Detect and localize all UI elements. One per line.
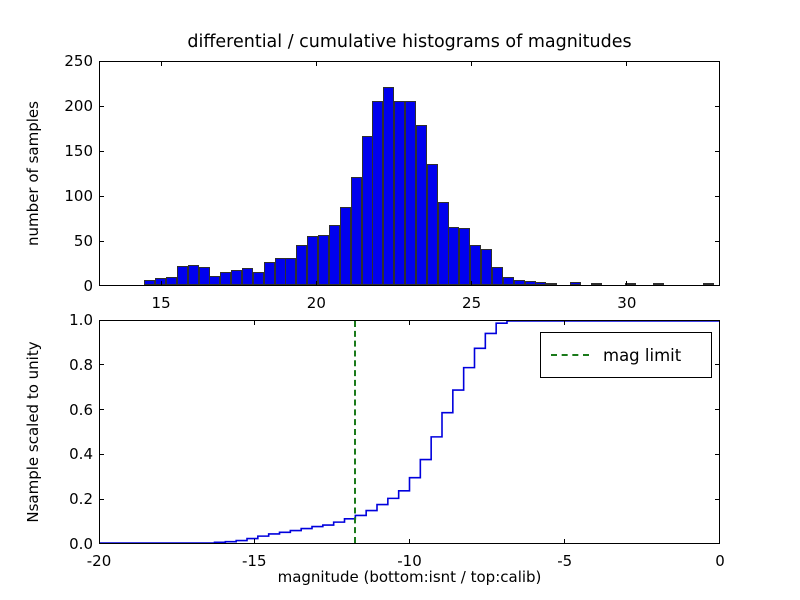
bottom-ytick-4 [100,364,104,365]
histogram-bar [525,281,536,285]
top-xtick-upper-2 [471,62,472,66]
histogram-bar [264,262,275,285]
top-xtick-3 [626,281,627,285]
mag-limit-vline [354,321,356,543]
bottom-ytick-2 [100,454,104,455]
histogram-bar [351,177,362,285]
top-xtick-label-1: 20 [307,294,326,312]
histogram-bar [503,277,514,285]
top-ytick-label-2: 100 [51,187,93,205]
histogram-bar [492,267,503,285]
top-ytick-3 [100,151,104,152]
top-panel-y-axis-label: number of samples [24,61,42,286]
mag-limit-legend-swatch-icon [551,354,589,356]
bottom-ytick-right-2 [715,454,719,455]
bottom-ytick-label-1: 0.2 [51,490,93,508]
histogram-bar [209,276,220,285]
top-ytick-label-0: 0 [51,277,93,295]
histogram-bar [438,202,449,285]
top-ytick-label-4: 200 [51,97,93,115]
histogram-bar [703,283,714,285]
top-xtick-label-3: 30 [617,294,636,312]
bottom-panel-y-axis-label: Nsample scaled to unity [24,320,42,544]
histogram-plot-area [100,62,719,285]
legend[interactable]: mag limit [540,332,712,378]
cumulative-histogram-axes: mag limit [99,320,720,544]
histogram-bar [340,207,351,285]
top-ytick-label-5: 250 [51,52,93,70]
histogram-bar [383,87,394,285]
histogram-bar [166,277,177,285]
bottom-ytick-right-4 [715,364,719,365]
bottom-ytick-label-4: 0.8 [51,356,93,374]
histogram-bar [394,101,405,286]
top-xtick-upper-3 [626,62,627,66]
legend-entry-label: mag limit [603,346,681,365]
histogram-bar [253,272,264,285]
histogram-bar [329,225,340,285]
bottom-ytick-label-0: 0.0 [51,535,93,553]
bottom-xtick-label-2: -10 [397,552,422,570]
histogram-bar [177,266,188,285]
bottom-ytick-right-3 [715,409,719,410]
bottom-xtick-upper-3 [564,321,565,325]
top-ytick-right-5 [715,61,719,62]
bottom-xtick-label-0: -20 [87,552,112,570]
bottom-ytick-label-2: 0.4 [51,445,93,463]
histogram-bar [416,125,427,285]
histogram-bar [470,245,481,286]
x-axis-label: magnitude (bottom:isnt / top:calib) [99,568,720,586]
top-ytick-2 [100,196,104,197]
histogram-bar [362,136,373,285]
histogram-bar [514,280,525,285]
bottom-xtick-2 [409,539,410,543]
histogram-bar [188,265,199,285]
matplotlib-figure: differential / cumulative histograms of … [0,0,800,600]
bottom-ytick-right-1 [715,499,719,500]
top-xtick-2 [471,281,472,285]
histogram-bar [144,280,155,285]
bottom-ytick-label-5: 1.0 [51,311,93,329]
top-ytick-right-4 [715,106,719,107]
histogram-bar [220,272,231,286]
top-ytick-label-3: 150 [51,142,93,160]
bottom-xtick-1 [254,539,255,543]
differential-histogram-axes [99,61,720,286]
bottom-ytick-label-3: 0.6 [51,401,93,419]
bottom-xtick-3 [564,539,565,543]
histogram-bar [427,164,438,286]
histogram-bar [372,101,383,286]
bottom-xtick-label-1: -15 [242,552,267,570]
histogram-bar [535,282,546,285]
histogram-bar [591,283,602,285]
histogram-bar [285,258,296,285]
histogram-bar [459,228,470,285]
bottom-ytick-3 [100,409,104,410]
bottom-ytick-1 [100,499,104,500]
histogram-bar [275,258,286,285]
top-ytick-right-2 [715,196,719,197]
top-xtick-label-0: 15 [152,294,171,312]
histogram-bar [307,236,318,286]
top-ytick-right-3 [715,151,719,152]
top-xtick-0 [161,281,162,285]
bottom-xtick-label-3: -5 [557,552,572,570]
top-ytick-4 [100,106,104,107]
bottom-xtick-label-4: 0 [715,552,725,570]
histogram-bar [296,245,307,285]
top-ytick-label-1: 50 [51,232,93,250]
top-ytick-1 [100,241,104,242]
histogram-bar [448,227,459,286]
histogram-bar [653,283,664,285]
histogram-bar [199,267,210,285]
histogram-bar [405,101,416,286]
top-xtick-1 [316,281,317,285]
histogram-bar [570,282,581,285]
histogram-bar [481,249,492,285]
histogram-bar [242,268,253,285]
histogram-bar [231,270,242,285]
figure-title: differential / cumulative histograms of … [99,32,720,52]
top-ytick-right-1 [715,241,719,242]
top-xtick-upper-1 [316,62,317,66]
histogram-bar [318,235,329,285]
top-ytick-5 [100,61,104,62]
bottom-xtick-upper-2 [409,321,410,325]
bottom-xtick-upper-1 [254,321,255,325]
top-xtick-upper-0 [161,62,162,66]
top-xtick-label-2: 25 [462,294,481,312]
histogram-bar [546,283,557,285]
